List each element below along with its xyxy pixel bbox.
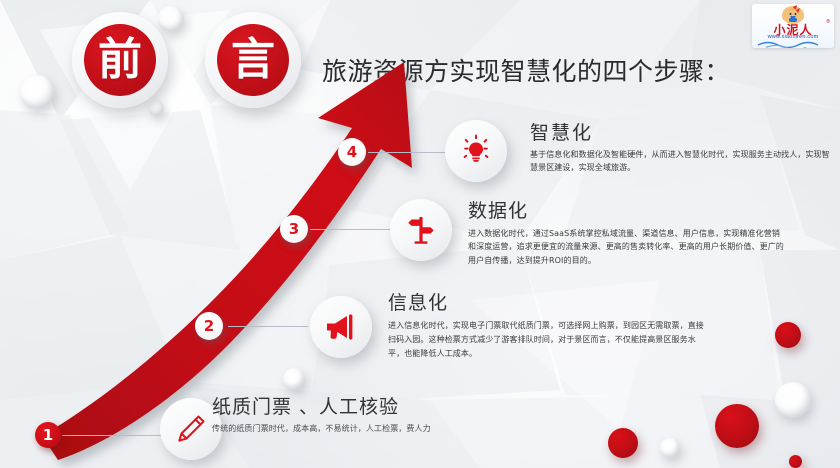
step-1-body: 传统的纸质门票时代，成本高，不易统计，人工检票，费人力 xyxy=(212,423,542,435)
step-number-1[interactable]: 1 xyxy=(35,422,61,448)
step-1-heading: 纸质门票 、人工核验 xyxy=(212,392,542,419)
step-3-icon-circle[interactable] xyxy=(390,199,452,261)
leader-line-3 xyxy=(310,229,392,230)
step-number-4-label: 4 xyxy=(347,143,357,161)
signpost-icon xyxy=(405,214,437,246)
pencil-icon xyxy=(174,412,208,446)
step-number-3-label: 3 xyxy=(289,220,299,238)
leader-line-4 xyxy=(368,152,446,153)
step-3-heading: 数据化 xyxy=(468,196,786,223)
step-number-2[interactable]: 2 xyxy=(195,312,223,340)
step-2-body: 进入信息化时代，实现电子门票取代纸质门票，可选择网上购票，到园区无需取票，直接扫… xyxy=(388,319,706,360)
step-4-heading: 智慧化 xyxy=(530,118,830,145)
slide-canvas: 前 言 旅游资源方实现智慧化的四个步骤： 小泥人 ® www.xiaoniren… xyxy=(0,0,840,468)
step-number-4[interactable]: 4 xyxy=(338,138,366,166)
step-number-2-label: 2 xyxy=(204,317,214,335)
step-4-text-block: 智慧化 基于信息化和数据化及智能硬件，从而进入智慧化时代，实现服务主动找人，实现… xyxy=(530,118,830,175)
lightbulb-icon xyxy=(459,134,493,168)
step-3-body: 进入数据化时代，通过SaaS系统掌控私域流量、渠道信息、用户信息，实现精准化营销… xyxy=(468,227,786,267)
megaphone-icon xyxy=(324,312,358,342)
leader-line-1 xyxy=(62,435,162,436)
step-4-body: 基于信息化和数据化及智能硬件，从而进入智慧化时代，实现服务主动找人，实现智慧景区… xyxy=(530,149,830,175)
step-number-3[interactable]: 3 xyxy=(280,215,308,243)
step-2-heading: 信息化 xyxy=(388,288,706,315)
step-number-1-label: 1 xyxy=(43,426,53,444)
step-1-text-block: 纸质门票 、人工核验 传统的纸质门票时代，成本高，不易统计，人工检票，费人力 xyxy=(212,392,542,435)
leader-line-2 xyxy=(228,326,308,327)
step-2-text-block: 信息化 进入信息化时代，实现电子门票取代纸质门票，可选择网上购票，到园区无需取票… xyxy=(388,288,706,360)
step-2-icon-circle[interactable] xyxy=(310,296,372,358)
step-3-text-block: 数据化 进入数据化时代，通过SaaS系统掌控私域流量、渠道信息、用户信息，实现精… xyxy=(468,196,786,267)
step-4-icon-circle[interactable] xyxy=(445,120,507,182)
